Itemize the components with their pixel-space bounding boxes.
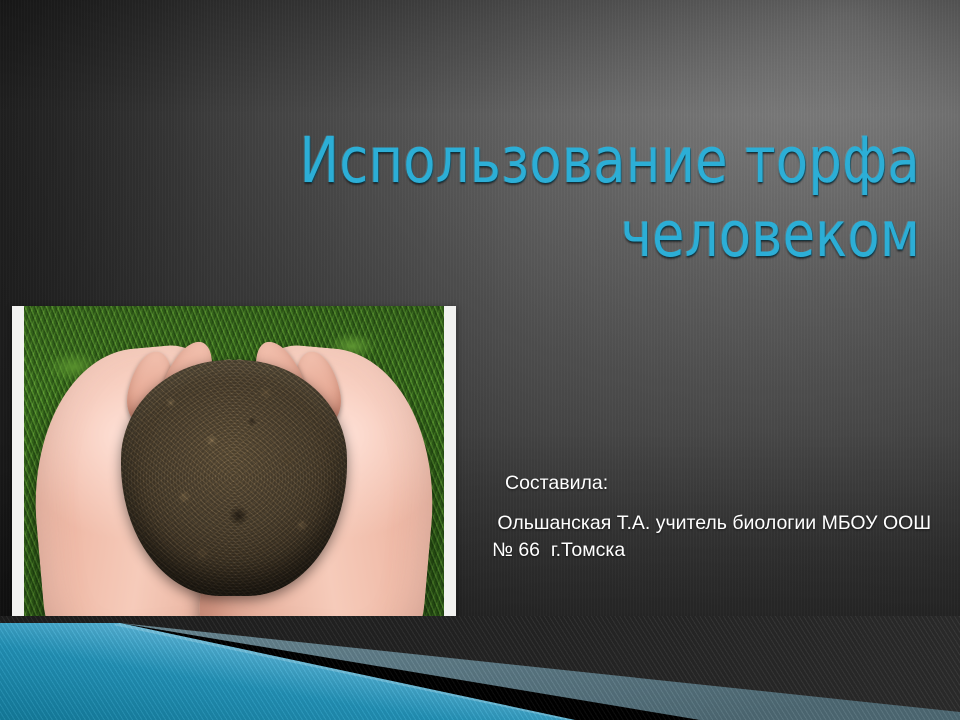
peat-soil-mound [121, 360, 347, 596]
slide-subtitle: Составила: Ольшанская Т.А. учитель биоло… [492, 470, 932, 564]
title-line-1: Использование торфа [176, 124, 920, 198]
slide-title: Использование торфа человеком [120, 124, 920, 272]
bottom-decoration-shapes [0, 616, 960, 720]
subtitle-label-composed-by: Составила: [492, 470, 932, 497]
presentation-slide: Использование торфа человеком Составила:… [0, 0, 960, 720]
photo-hands-holding-peat [24, 306, 444, 644]
title-line-2: человеком [176, 198, 920, 272]
photo-frame [12, 306, 456, 644]
bottom-decoration [0, 616, 960, 720]
peat-soil-texture [121, 360, 347, 596]
subtitle-author-details: Ольшанская Т.А. учитель биологии МБОУ ОО… [492, 510, 932, 564]
